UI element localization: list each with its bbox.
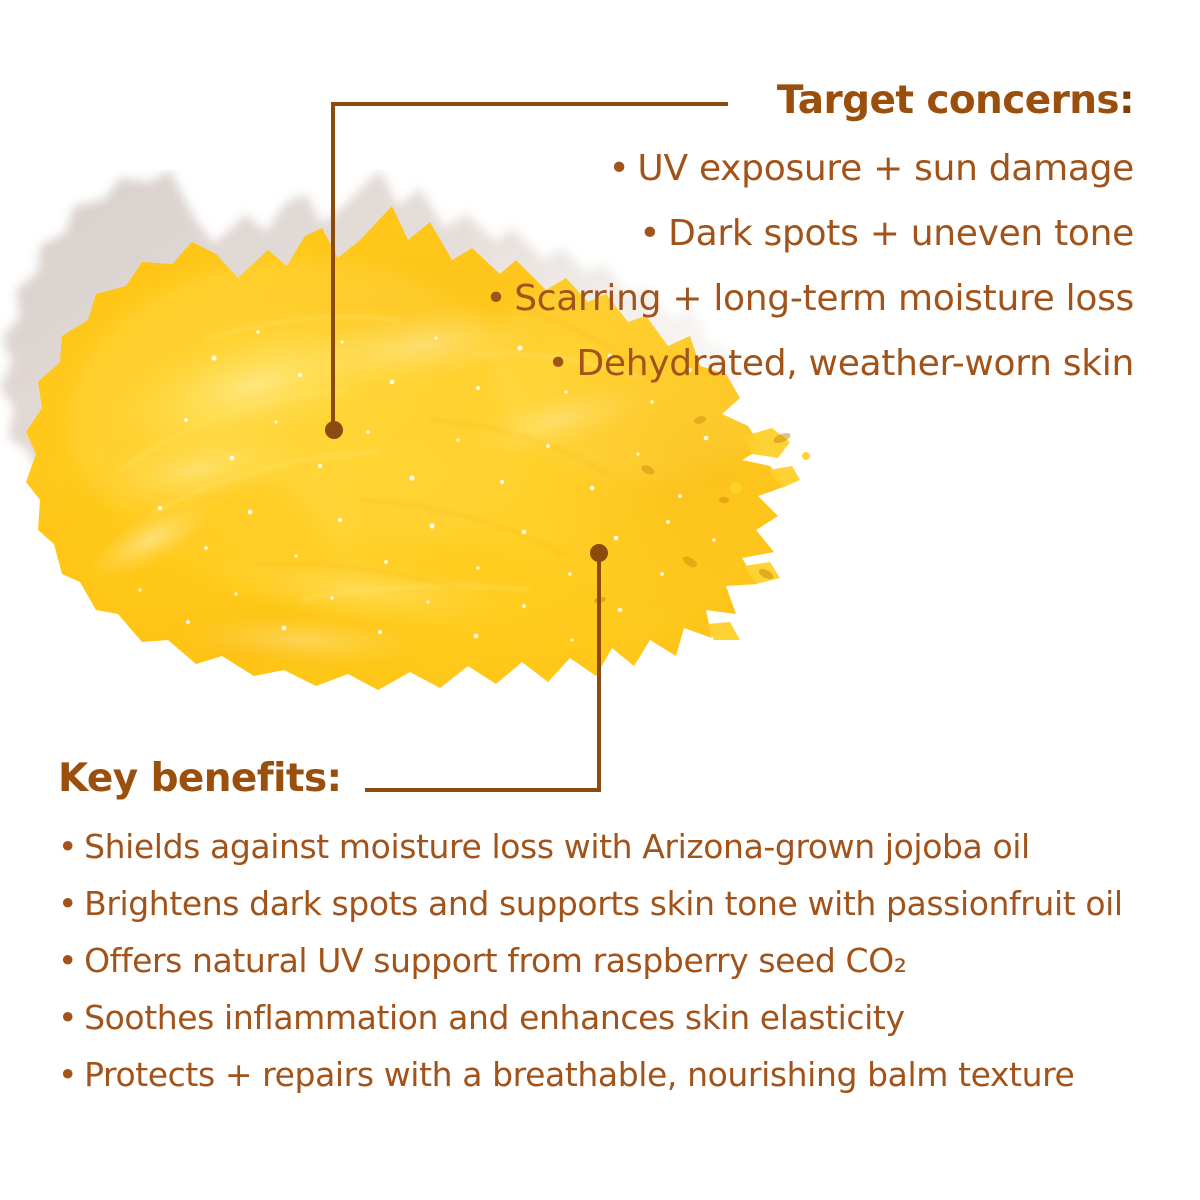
- list-item: •Soothes inflammation and enhances skin …: [58, 989, 1178, 1046]
- list-item-label: Dehydrated, weather-worn skin: [576, 343, 1134, 384]
- bullet-icon: •: [608, 136, 629, 201]
- bullet-icon: •: [58, 932, 77, 989]
- callout-endpoint-dot: [325, 421, 343, 439]
- list-item: •Offers natural UV support from raspberr…: [58, 932, 1178, 989]
- list-item: •Dehydrated, weather-worn skin: [434, 331, 1134, 396]
- list-item-label: UV exposure + sun damage: [637, 148, 1134, 189]
- target-concerns-heading-label: Target concerns: [777, 78, 1119, 123]
- list-item: •UV exposure + sun damage: [434, 136, 1134, 201]
- list-item: •Brightens dark spots and supports skin …: [58, 875, 1178, 932]
- bullet-icon: •: [58, 989, 77, 1046]
- callout-line-vertical: [331, 104, 335, 430]
- bullet-icon: •: [58, 818, 77, 875]
- list-item-label: Dark spots + uneven tone: [668, 213, 1134, 254]
- callout-endpoint-dot: [590, 544, 608, 562]
- key-benefits-heading: Key benefits:: [58, 756, 1178, 802]
- list-item-label: Protects + repairs with a breathable, no…: [84, 1055, 1074, 1094]
- bullet-icon: •: [485, 266, 506, 331]
- bullet-icon: •: [639, 201, 660, 266]
- bullet-icon: •: [548, 331, 569, 396]
- target-concerns-list: •UV exposure + sun damage •Dark spots + …: [434, 136, 1134, 396]
- key-benefits-section: Key benefits: •Shields against moisture …: [58, 756, 1178, 1103]
- target-concerns-heading: Target concerns:: [434, 78, 1134, 124]
- list-item-label: Brightens dark spots and supports skin t…: [84, 884, 1123, 923]
- list-item: •Scarring + long-term moisture loss: [434, 266, 1134, 331]
- key-benefits-list: •Shields against moisture loss with Ariz…: [58, 818, 1178, 1103]
- bullet-icon: •: [58, 875, 77, 932]
- list-item-label: Soothes inflammation and enhances skin e…: [84, 998, 905, 1037]
- target-concerns-heading-colon: :: [1119, 78, 1134, 123]
- list-item: •Shields against moisture loss with Ariz…: [58, 818, 1178, 875]
- list-item: •Dark spots + uneven tone: [434, 201, 1134, 266]
- list-item-label: Offers natural UV support from raspberry…: [84, 941, 907, 980]
- bullet-icon: •: [58, 1046, 77, 1103]
- target-concerns-section: Target concerns: •UV exposure + sun dama…: [434, 78, 1134, 396]
- list-item-label: Shields against moisture loss with Arizo…: [84, 827, 1030, 866]
- product-benefits-infographic: Target concerns: •UV exposure + sun dama…: [0, 0, 1200, 1200]
- list-item-label: Scarring + long-term moisture loss: [514, 278, 1134, 319]
- list-item: •Protects + repairs with a breathable, n…: [58, 1046, 1178, 1103]
